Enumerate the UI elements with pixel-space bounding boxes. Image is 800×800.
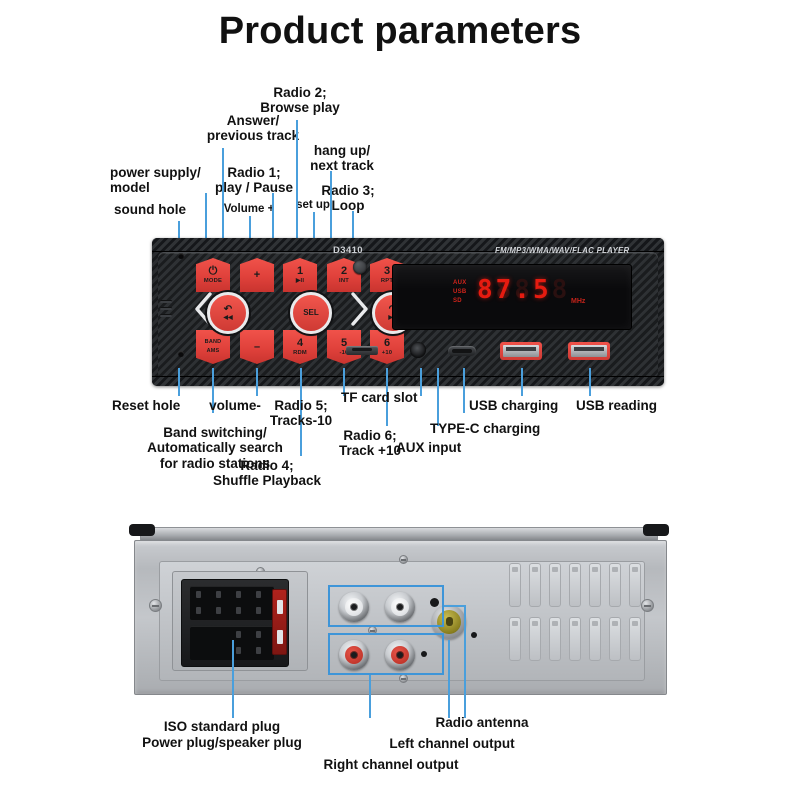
button-label: + — [254, 270, 260, 281]
answer-call-icon: ↶ — [224, 304, 232, 315]
button-label: 2 — [341, 266, 347, 277]
source-indicators: AUX USB SD — [453, 279, 467, 306]
button-label: 6 — [384, 338, 390, 349]
play-pause-icon: ▶II — [296, 279, 304, 285]
product-parameters-page: Product parameters sound hole power supp… — [0, 0, 800, 800]
page-title: Product parameters — [0, 10, 800, 53]
button-label: SEL — [303, 309, 319, 318]
usb-charging-port[interactable] — [500, 342, 542, 360]
label-sound-hole: sound hole — [114, 202, 186, 217]
label-power-supply-model: power supply/ model — [110, 165, 201, 196]
button-label: 3 — [384, 266, 390, 277]
player-format-text: FM/MP3/WMA/WAV/FLAC PLAYER — [495, 246, 629, 255]
leader-line — [464, 605, 466, 718]
button-sublabel: AMS — [207, 349, 220, 355]
previous-track-icon: ◀◀ — [223, 315, 232, 322]
button-label: BAND — [205, 340, 222, 346]
indicator-aux: AUX — [453, 279, 467, 288]
usb-reading-port[interactable] — [568, 342, 610, 360]
button-power-mode[interactable]: ⏻ MODE — [196, 258, 230, 292]
leader-line — [232, 640, 234, 718]
button-sublabel: +10 — [382, 351, 392, 357]
label-radio6-track-plus10: Radio 6; Track +10 — [339, 428, 401, 459]
button-label: 1 — [297, 266, 303, 277]
label-radio4-shuffle: Radio 4; Shuffle Playback — [213, 458, 321, 489]
label-power-speaker-plug: Power plug/speaker plug — [142, 735, 302, 750]
label-usb-reading: USB reading — [576, 398, 657, 413]
button-band-ams[interactable]: BAND AMS — [196, 330, 230, 364]
fuse-holder — [272, 589, 287, 655]
button-volume-up[interactable]: + — [240, 258, 274, 292]
speaker-grille — [160, 300, 172, 324]
leader-line — [256, 368, 258, 396]
indicator-sd: SD — [453, 297, 467, 306]
leader-line — [296, 120, 298, 255]
label-iso-standard-plug: ISO standard plug — [164, 719, 280, 734]
chevron-right-icon — [350, 292, 370, 326]
leader-line — [420, 368, 422, 396]
label-type-c-charging: TYPE-C charging — [430, 421, 540, 436]
label-reset-hole: Reset hole — [112, 398, 180, 413]
leader-line — [589, 368, 591, 396]
leader-line — [444, 605, 466, 607]
chassis-screw — [149, 599, 162, 612]
front-bezel-bottom — [152, 376, 664, 386]
sound-hole — [178, 253, 184, 259]
label-aux-input: AUX input — [396, 440, 461, 455]
model-number: D3410 — [333, 245, 363, 256]
leader-line — [369, 675, 371, 718]
leader-line — [463, 368, 465, 413]
label-usb-charging: USB charging — [469, 398, 558, 413]
label-volume-plus: Volume + — [224, 203, 275, 216]
chassis-screw — [399, 674, 408, 683]
button-sublabel: MODE — [204, 279, 222, 285]
label-answer-previous-track: Answer/ previous track — [207, 113, 299, 144]
label-radio5-tracks-minus10: Radio 5; Tracks-10 — [270, 398, 332, 429]
aux-input-jack[interactable] — [410, 342, 426, 358]
chassis-screw — [399, 555, 408, 564]
leader-line — [178, 368, 180, 396]
label-volume-minus: volume- — [209, 398, 261, 413]
button-sublabel: INT — [339, 279, 349, 285]
indicator-usb: USB — [453, 288, 467, 297]
button-volume-down[interactable]: – — [240, 330, 274, 364]
label-radio1-play-pause: Radio 1; play / Pause — [215, 165, 293, 196]
leader-line — [448, 640, 450, 718]
button-preset-4[interactable]: 4 RDM — [283, 330, 317, 364]
lcd-display: AUX USB SD 888.8 87.5 MHz — [392, 264, 632, 330]
panel-hole — [471, 632, 477, 638]
highlight-box-left-channel — [328, 585, 444, 627]
frequency-unit: MHz — [571, 298, 585, 305]
ventilation-slots — [509, 559, 643, 667]
leader-line — [437, 368, 439, 426]
reset-hole[interactable] — [178, 351, 184, 357]
label-left-channel-output: Left channel output — [389, 736, 514, 751]
label-hang-up-next-track: hang up/ next track — [310, 143, 374, 174]
label-tf-card-slot: TF card slot — [341, 390, 418, 405]
button-preset-1[interactable]: 1 ▶II — [283, 258, 317, 292]
tf-card-slot[interactable] — [346, 346, 378, 355]
power-icon: ⏻ — [209, 266, 218, 277]
frequency-value: 87.5 — [477, 275, 552, 305]
highlight-box-right-channel — [328, 633, 444, 675]
volume-knob[interactable] — [353, 260, 367, 274]
button-answer-previous[interactable]: ↶ ◀◀ — [207, 292, 249, 334]
button-sublabel: RDM — [293, 351, 307, 357]
label-radio2-browse-play: Radio 2; Browse play — [260, 85, 340, 116]
label-radio-antenna: Radio antenna — [435, 715, 528, 730]
button-label: – — [254, 342, 260, 353]
leader-line — [521, 368, 523, 396]
type-c-port[interactable] — [448, 346, 476, 356]
button-select[interactable]: SEL — [290, 292, 332, 334]
label-right-channel-output: Right channel output — [324, 757, 459, 772]
button-label: 4 — [297, 338, 303, 349]
iso-plug-row-upper — [190, 586, 274, 620]
